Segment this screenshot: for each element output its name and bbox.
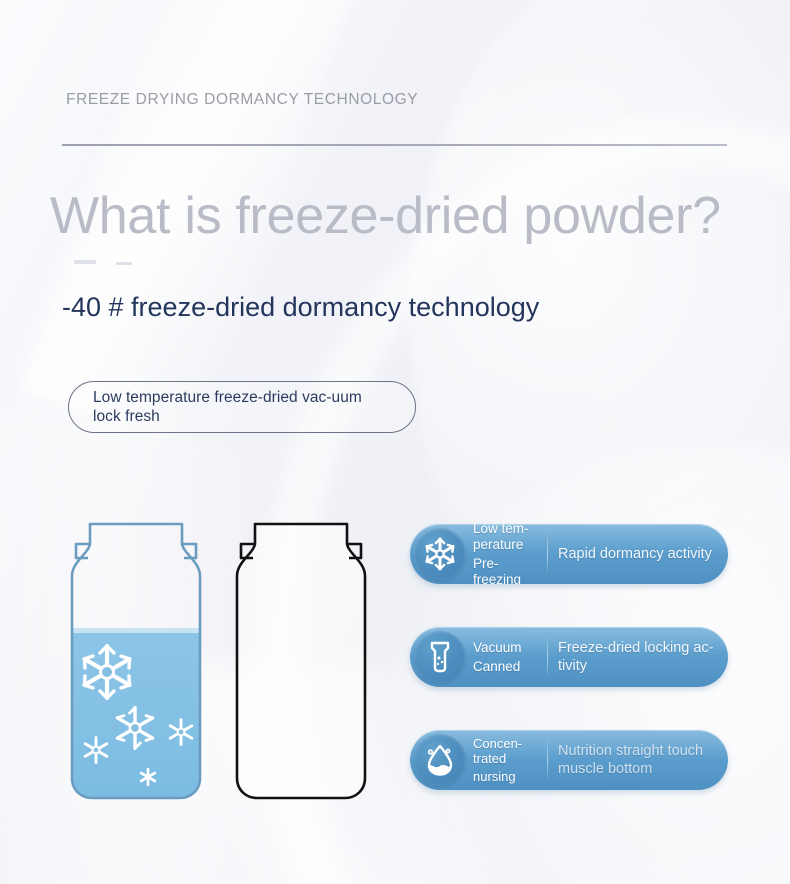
vial-illustration [60,510,390,802]
poster-canvas: FREEZE DRYING DORMANCY TECHNOLOGY What i… [0,0,790,884]
feature-label: Concen-trated nursing [473,736,545,784]
feature-label-top: Low tem-perature [473,524,545,553]
filled-vial-graphic [60,510,212,802]
feature-pill-vacuum-canned[interactable]: Vacuum Canned Freeze-dried locking ac-ti… [410,627,728,687]
snowflake-glyph [423,537,457,571]
faded-mark-left [74,260,96,264]
vial-icon [414,631,466,683]
feature-label-bottom: Pre-freezing [473,556,545,585]
water-drop-glyph [424,743,456,777]
caption-text: Low temperature freeze-dried vac-uum loc… [93,388,391,426]
feature-label-top: Vacuum [473,640,545,656]
feature-description: Rapid dormancy activity [558,545,728,563]
vial-glyph [425,640,455,674]
page-subtitle: -40 # freeze-dried dormancy technology [62,292,539,323]
feature-label: Low tem-perature Pre-freezing [473,524,545,584]
feature-label-top: Concen-trated [473,736,545,766]
eyebrow-label: FREEZE DRYING DORMANCY TECHNOLOGY [66,91,418,109]
page-title: What is freeze-dried powder? [50,186,721,246]
header-divider [62,144,727,146]
feature-pill-list: Low tem-perature Pre-freezing Rapid dorm… [410,524,730,833]
faded-artifact [70,252,190,274]
water-drop-icon [414,734,466,786]
feature-label-bottom: nursing [473,769,545,784]
feature-pill-concentrated-nursing[interactable]: Concen-trated nursing Nutrition straight… [410,730,728,790]
snowflake-icon [414,528,466,580]
pill-divider [547,534,548,574]
faded-mark-right [116,262,132,265]
pill-divider [547,637,548,677]
pill-divider [547,740,548,780]
caption-box: Low temperature freeze-dried vac-uum loc… [68,381,416,433]
feature-label: Vacuum Canned [473,640,545,675]
empty-vial-graphic [225,510,377,802]
feature-description: Nutrition straight touch muscle bottom [558,742,728,778]
feature-label-bottom: Canned [473,659,545,675]
feature-pill-low-temperature[interactable]: Low tem-perature Pre-freezing Rapid dorm… [410,524,728,584]
feature-description: Freeze-dried locking ac-tivity [558,639,728,675]
